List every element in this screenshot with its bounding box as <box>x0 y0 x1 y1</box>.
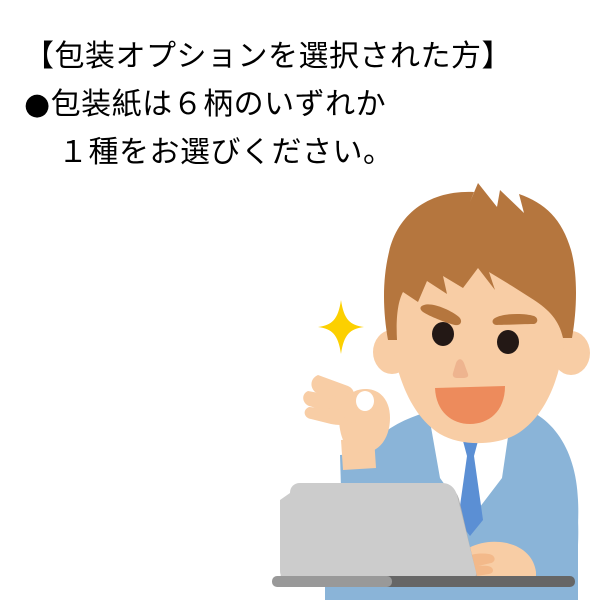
sparkle-icon <box>318 300 364 354</box>
page-root: 【包装オプションを選択された方】 ●包装紙は６柄のいずれか １種をお選びください… <box>0 0 600 600</box>
eye-right-shape <box>497 330 519 354</box>
ok-hand-hole <box>356 391 374 411</box>
laptop-lid-shape <box>280 483 476 579</box>
laptop-base-front-left <box>272 576 392 587</box>
eye-left-shape <box>432 322 454 346</box>
businessman-illustration <box>0 0 600 600</box>
